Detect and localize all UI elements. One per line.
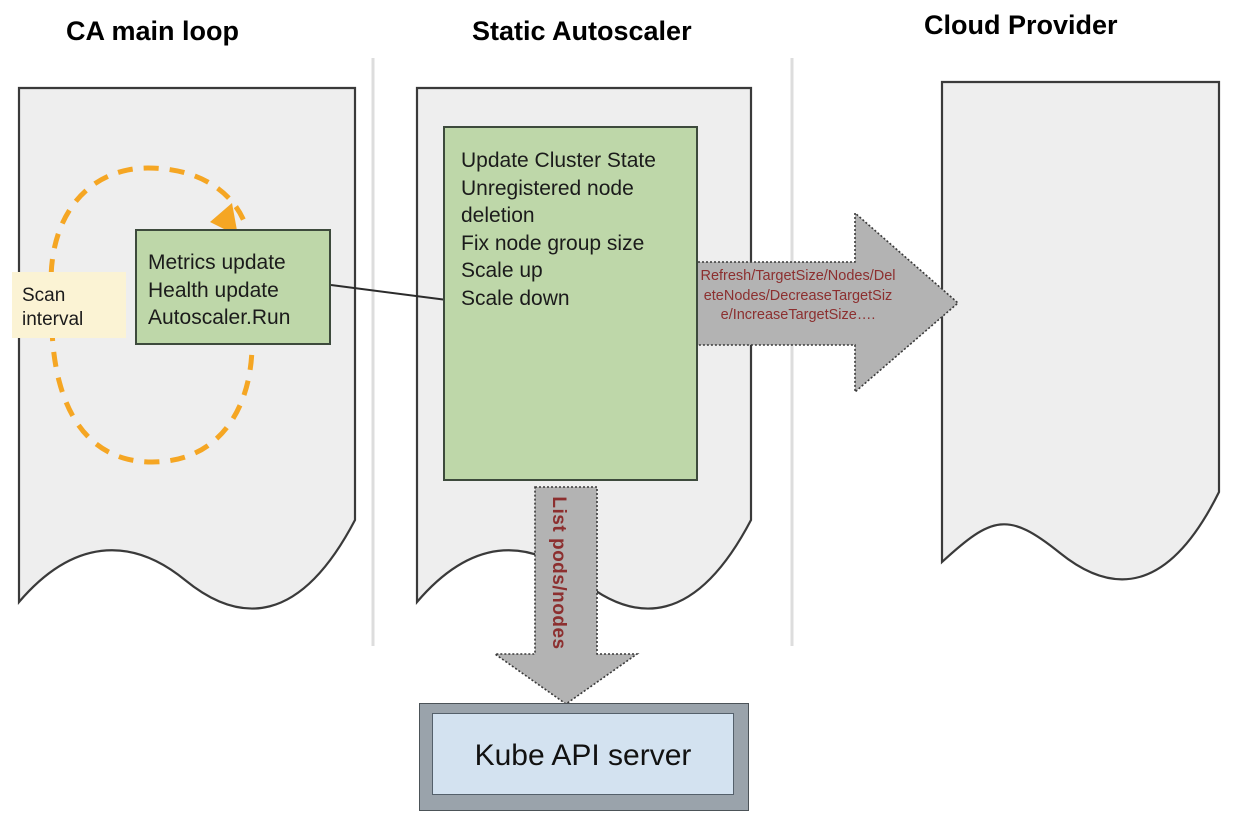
cloud-provider-arrow-label: Refresh/TargetSize/Nodes/DeleteNodes/Dec… — [700, 267, 896, 326]
process-box-static-autoscaler-steps-label: Update Cluster State Unregistered node d… — [461, 147, 701, 312]
process-box-metrics-update-label: Metrics update Health update Autoscaler.… — [148, 249, 328, 332]
lane-document-ca-main-loop — [19, 88, 355, 609]
lane-title-ca-main-loop: CA main loop — [66, 16, 239, 47]
scan-interval-note-label: Scan interval — [22, 284, 122, 332]
lane-title-static-autoscaler: Static Autoscaler — [472, 16, 692, 47]
lane-document-cloud-provider — [942, 82, 1219, 579]
list-pods-nodes-arrow-label: List pods/nodes — [548, 493, 568, 653]
lane-title-cloud-provider: Cloud Provider — [924, 10, 1118, 41]
kube-api-server-label: Kube API server — [432, 739, 734, 773]
